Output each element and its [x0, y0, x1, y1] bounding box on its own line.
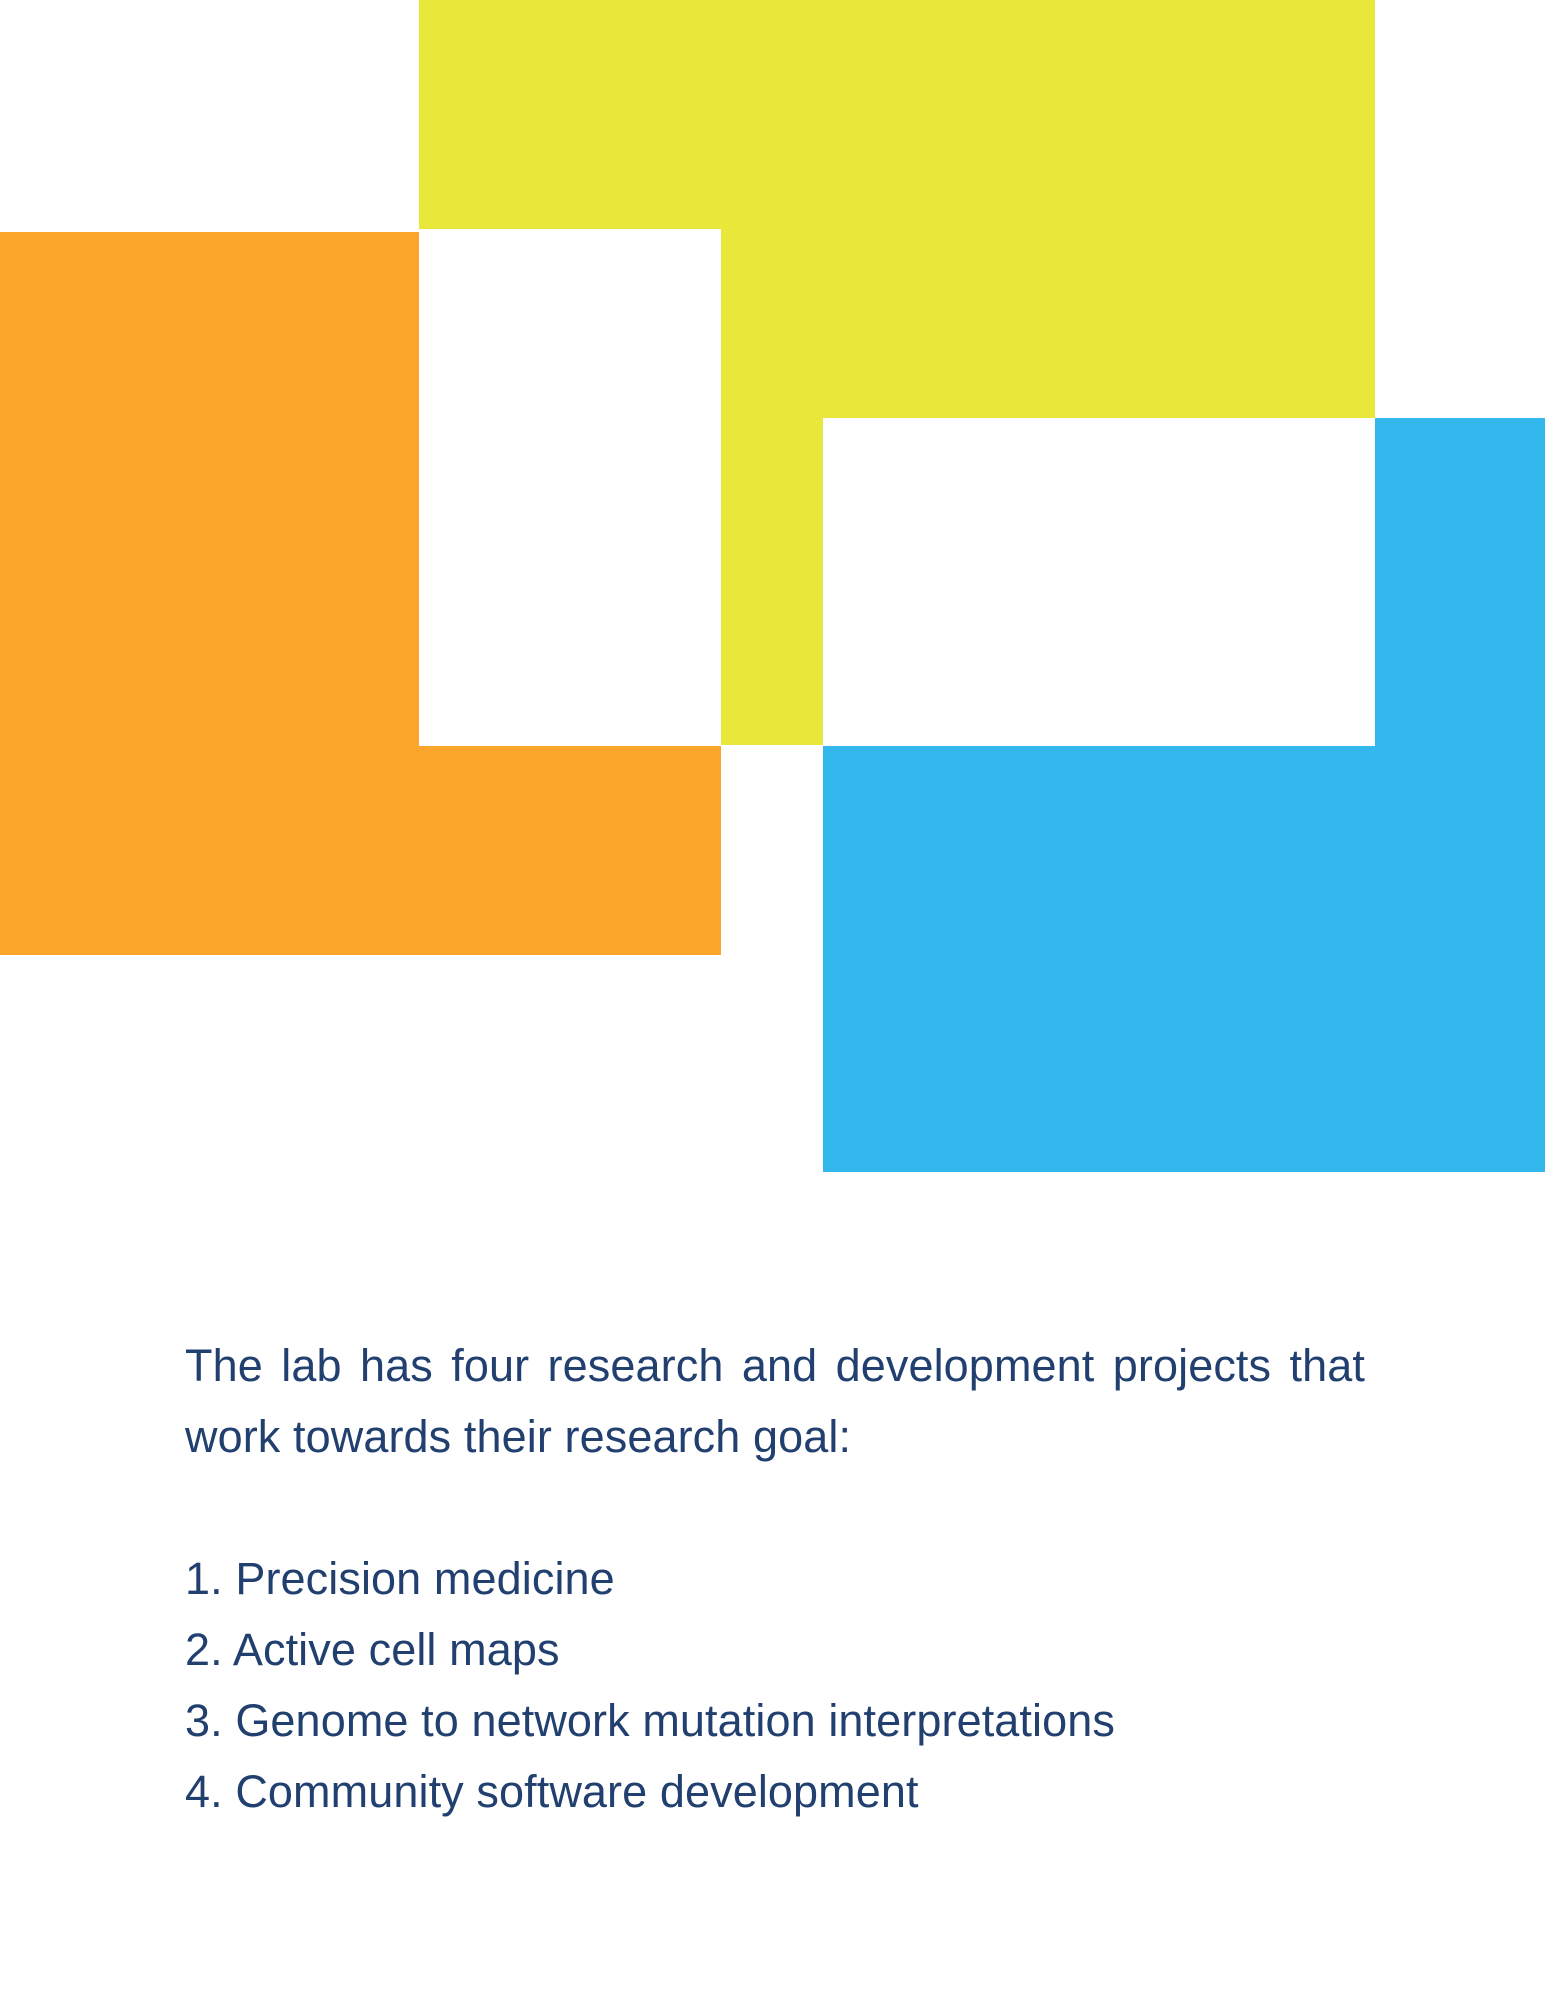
intro-paragraph: The lab has four research and developmen… — [185, 1330, 1365, 1472]
content-text-block: The lab has four research and developmen… — [185, 1330, 1365, 1827]
list-item: 3. Genome to network mutation interpreta… — [185, 1685, 1365, 1756]
list-item: 2. Active cell maps — [185, 1614, 1365, 1685]
list-item: 4. Community software development — [185, 1756, 1365, 1827]
white-notch-right — [823, 418, 1375, 746]
decorative-color-block-composition — [0, 0, 1545, 1200]
list-item: 1. Precision medicine — [185, 1543, 1365, 1614]
white-notch-left — [419, 229, 721, 746]
project-list: 1. Precision medicine 2. Active cell map… — [185, 1543, 1365, 1827]
